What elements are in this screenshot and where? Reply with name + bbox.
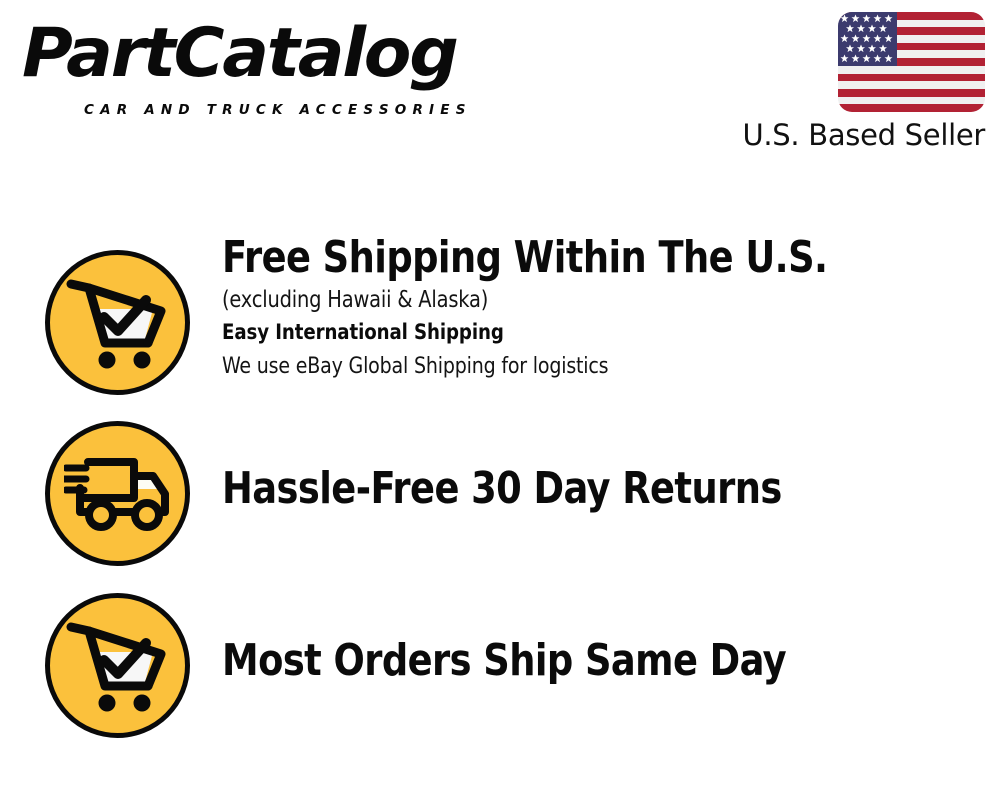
feature-subtitle-strong: Easy International Shipping	[222, 316, 935, 350]
flag-stripe	[838, 104, 985, 112]
flag-stripe	[838, 74, 985, 82]
brand-logo[interactable]: PartCatalog CAR AND TRUCK ACCESSORIES	[22, 18, 492, 118]
us-based-seller-label: U.S. Based Seller	[742, 118, 985, 152]
delivery-truck-icon	[45, 421, 190, 566]
feature-row: Most Orders Ship Same Day	[0, 593, 1000, 741]
flag-stripe	[838, 89, 985, 97]
flag-canton	[838, 12, 897, 66]
flag-stripe	[838, 66, 985, 74]
header: PartCatalog CAR AND TRUCK ACCESSORIES	[0, 0, 1000, 175]
feature-text: Hassle-Free 30 Day Returns	[222, 463, 980, 515]
feature-row: Free Shipping Within The U.S. (excluding…	[0, 232, 1000, 412]
feature-subtitle-secondary: We use eBay Global Shipping for logistic…	[222, 350, 935, 382]
feature-subtitle: (excluding Hawaii & Alaska)	[222, 284, 935, 316]
feature-text: Free Shipping Within The U.S. (excluding…	[222, 232, 980, 382]
shopping-cart-check-icon	[45, 593, 190, 738]
brand-wordmark: PartCatalog	[22, 18, 501, 90]
shopping-cart-check-icon	[45, 250, 190, 395]
feature-row: Hassle-Free 30 Day Returns	[0, 421, 1000, 569]
feature-text: Most Orders Ship Same Day	[222, 635, 980, 687]
feature-title: Hassle-Free 30 Day Returns	[222, 463, 927, 515]
flag-stripe	[838, 97, 985, 105]
brand-tagline: CAR AND TRUCK ACCESSORIES	[84, 102, 472, 118]
us-flag-icon	[838, 12, 985, 112]
feature-title: Free Shipping Within The U.S.	[222, 232, 927, 284]
flag-stripe	[838, 81, 985, 89]
feature-title: Most Orders Ship Same Day	[222, 635, 927, 687]
